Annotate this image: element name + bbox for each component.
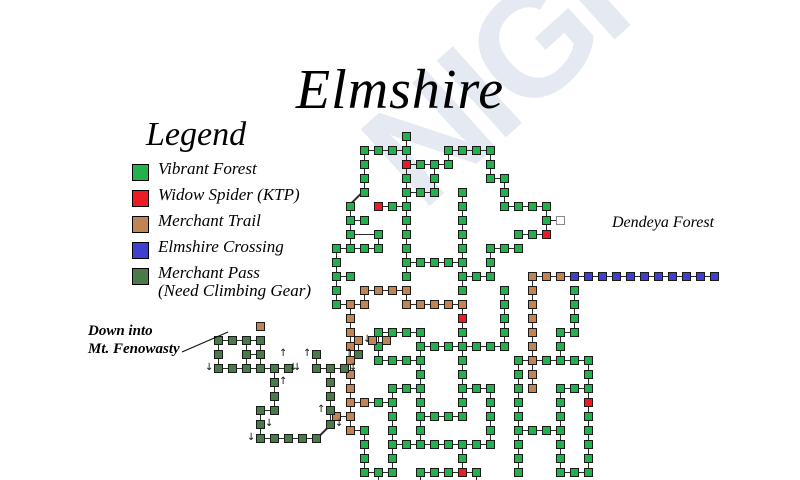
map-node-pass[interactable] (326, 406, 335, 415)
legend-label-forest: Vibrant Forest (158, 160, 257, 178)
map-node-forest[interactable] (556, 426, 565, 435)
map-node-forest[interactable] (388, 146, 397, 155)
map-node-forest[interactable] (472, 440, 481, 449)
map-node-forest[interactable] (514, 356, 523, 365)
map-node-trail[interactable] (382, 336, 391, 345)
map-node-forest[interactable] (570, 356, 579, 365)
map-node-forest[interactable] (402, 244, 411, 253)
map-node-forest[interactable] (514, 230, 523, 239)
map-node-forest[interactable] (486, 258, 495, 267)
map-node-forest[interactable] (430, 160, 439, 169)
map-node-forest[interactable] (346, 272, 355, 281)
map-node-crossing[interactable] (696, 272, 705, 281)
map-node-pass[interactable] (256, 406, 265, 415)
map-node-trail[interactable] (528, 300, 537, 309)
map-node-forest[interactable] (402, 146, 411, 155)
map-node-pass[interactable] (214, 364, 223, 373)
map-node-forest[interactable] (570, 286, 579, 295)
map-node-forest[interactable] (458, 272, 467, 281)
map-node-forest[interactable] (402, 272, 411, 281)
legend-swatch-forest (132, 164, 149, 181)
map-node-forest[interactable] (430, 342, 439, 351)
map-node-forest[interactable] (416, 468, 425, 477)
map-node-trail[interactable] (430, 300, 439, 309)
map-node-forest[interactable] (584, 454, 593, 463)
map-node-forest[interactable] (402, 216, 411, 225)
map-node-forest[interactable] (388, 384, 397, 393)
map-node-forest[interactable] (332, 286, 341, 295)
map-node-forest[interactable] (472, 342, 481, 351)
map-node-forest[interactable] (486, 398, 495, 407)
map-edge (504, 206, 546, 208)
map-node-trail[interactable] (528, 370, 537, 379)
annotation-leader-line (180, 330, 230, 360)
map-node-forest[interactable] (458, 440, 467, 449)
map-node-forest[interactable] (486, 440, 495, 449)
map-node-forest[interactable] (416, 356, 425, 365)
map-node-forest[interactable] (514, 426, 523, 435)
map-node-pass[interactable] (354, 350, 363, 359)
map-node-forest[interactable] (360, 216, 369, 225)
map-node-forest[interactable] (458, 202, 467, 211)
map-node-forest[interactable] (514, 202, 523, 211)
map-node-crossing[interactable] (682, 272, 691, 281)
map-node-forest[interactable] (486, 342, 495, 351)
map-arrow-down: ↓ (205, 363, 213, 373)
map-node-pass[interactable] (270, 378, 279, 387)
map-node-pass[interactable] (270, 434, 279, 443)
map-node-spider[interactable] (402, 160, 411, 169)
map-node-trail[interactable] (346, 426, 355, 435)
map-node-spider[interactable] (584, 398, 593, 407)
map-node-forest[interactable] (500, 286, 509, 295)
map-node-pass[interactable] (312, 364, 321, 373)
map-node-pass[interactable] (298, 434, 307, 443)
map-node-forest[interactable] (458, 258, 467, 267)
map-node-trail[interactable] (360, 300, 369, 309)
map-node-forest[interactable] (346, 216, 355, 225)
map-node-forest[interactable] (556, 328, 565, 337)
legend-label-pass: Merchant Pass (Need Climbing Gear) (158, 264, 311, 301)
map-node-crossing[interactable] (654, 272, 663, 281)
map-node-forest[interactable] (360, 188, 369, 197)
map-node-forest[interactable] (360, 244, 369, 253)
map-node-forest[interactable] (584, 370, 593, 379)
map-node-forest[interactable] (402, 188, 411, 197)
map-node-forest[interactable] (402, 230, 411, 239)
map-node-pass[interactable] (270, 392, 279, 401)
map-node-forest[interactable] (486, 174, 495, 183)
map-arrow-down: ↓ (363, 335, 371, 345)
map-node-forest[interactable] (458, 188, 467, 197)
map-node-pass[interactable] (326, 364, 335, 373)
map-arrow-up: ↑ (345, 349, 353, 359)
map-edge (406, 164, 448, 166)
map-node-forest[interactable] (360, 454, 369, 463)
map-node-forest[interactable] (444, 258, 453, 267)
map-node-forest[interactable] (514, 384, 523, 393)
map-node-pass[interactable] (228, 364, 237, 373)
map-node-empty[interactable] (556, 216, 565, 225)
legend-label-spider: Widow Spider (KTP) (158, 186, 300, 204)
map-node-forest[interactable] (346, 230, 355, 239)
map-edge (364, 150, 406, 152)
map-edge (364, 150, 366, 192)
map-edge (378, 332, 420, 334)
map-node-trail[interactable] (374, 286, 383, 295)
map-node-forest[interactable] (556, 342, 565, 351)
map-node-spider[interactable] (374, 202, 383, 211)
map-arrow-down: ↓ (265, 419, 273, 429)
map-node-forest[interactable] (360, 468, 369, 477)
map-arrow-down: ↓ (247, 433, 255, 443)
map-node-forest[interactable] (570, 384, 579, 393)
legend-swatch-trail (132, 216, 149, 233)
map-node-forest[interactable] (458, 342, 467, 351)
map-node-forest[interactable] (416, 384, 425, 393)
map-node-trail[interactable] (528, 342, 537, 351)
map-node-trail[interactable] (528, 272, 537, 281)
map-node-forest[interactable] (500, 202, 509, 211)
map-node-trail[interactable] (354, 336, 363, 345)
map-node-forest[interactable] (416, 342, 425, 351)
map-node-trail[interactable] (458, 300, 467, 309)
map-node-spider[interactable] (542, 230, 551, 239)
map-node-forest[interactable] (416, 188, 425, 197)
map-node-pass[interactable] (326, 420, 335, 429)
map-node-trail[interactable] (346, 314, 355, 323)
map-node-forest[interactable] (514, 412, 523, 421)
map-node-forest[interactable] (500, 188, 509, 197)
map-node-forest[interactable] (416, 440, 425, 449)
map-node-trail[interactable] (528, 314, 537, 323)
map-edge (574, 290, 576, 332)
annotation-dendeya-forest: Dendeya Forest (612, 214, 714, 233)
map-node-trail[interactable] (528, 384, 537, 393)
map-node-forest[interactable] (388, 356, 397, 365)
map-edge (406, 164, 408, 206)
map-node-forest[interactable] (472, 146, 481, 155)
map-node-forest[interactable] (556, 412, 565, 421)
map-node-forest[interactable] (500, 342, 509, 351)
map-node-pass[interactable] (256, 420, 265, 429)
map-node-forest[interactable] (360, 174, 369, 183)
map-node-pass[interactable] (270, 364, 279, 373)
map-node-forest[interactable] (514, 244, 523, 253)
map-node-forest[interactable] (332, 300, 341, 309)
map-node-forest[interactable] (388, 454, 397, 463)
map-node-forest[interactable] (388, 440, 397, 449)
map-node-forest[interactable] (388, 398, 397, 407)
map-node-pass[interactable] (242, 336, 251, 345)
map-node-forest[interactable] (430, 188, 439, 197)
map-node-pass[interactable] (326, 378, 335, 387)
map-node-forest[interactable] (416, 426, 425, 435)
map-node-forest[interactable] (444, 412, 453, 421)
map-node-forest[interactable] (374, 230, 383, 239)
map-node-forest[interactable] (332, 258, 341, 267)
map-node-forest[interactable] (570, 468, 579, 477)
map-node-forest[interactable] (472, 468, 481, 477)
map-node-forest[interactable] (500, 244, 509, 253)
map-node-pass[interactable] (256, 350, 265, 359)
map-node-pass[interactable] (312, 350, 321, 359)
map-node-pass[interactable] (284, 434, 293, 443)
map-edge (364, 430, 366, 472)
map-node-forest[interactable] (458, 146, 467, 155)
map-node-trail[interactable] (346, 398, 355, 407)
map-node-pass[interactable] (242, 350, 251, 359)
map-node-trail[interactable] (542, 272, 551, 281)
map-node-forest[interactable] (374, 356, 383, 365)
map-node-forest[interactable] (360, 146, 369, 155)
map-node-crossing[interactable] (626, 272, 635, 281)
map-node-forest[interactable] (374, 468, 383, 477)
map-node-forest[interactable] (444, 342, 453, 351)
map-node-trail[interactable] (528, 286, 537, 295)
map-node-spider[interactable] (458, 468, 467, 477)
map-node-forest[interactable] (472, 272, 481, 281)
map-node-forest[interactable] (584, 412, 593, 421)
map-node-trail[interactable] (388, 286, 397, 295)
map-node-forest[interactable] (402, 328, 411, 337)
map-node-forest[interactable] (416, 160, 425, 169)
page-title: Elmshire (0, 58, 800, 122)
map-node-forest[interactable] (542, 426, 551, 435)
map-node-forest[interactable] (486, 412, 495, 421)
legend-item-forest: Vibrant Forest (132, 160, 311, 181)
map-node-forest[interactable] (402, 202, 411, 211)
map-node-forest[interactable] (374, 398, 383, 407)
legend-heading: Legend (146, 118, 311, 152)
map-node-forest[interactable] (486, 160, 495, 169)
map-arrow-down: ↓ (289, 363, 297, 373)
map-node-forest[interactable] (486, 384, 495, 393)
map-edge (378, 360, 420, 362)
annotation-line-2: Mt. Fenowasty (88, 341, 180, 359)
legend-item-pass: Merchant Pass (Need Climbing Gear) (132, 264, 311, 301)
map-node-forest[interactable] (416, 370, 425, 379)
map-node-crossing[interactable] (570, 272, 579, 281)
legend-item-spider: Widow Spider (KTP) (132, 186, 311, 207)
map-node-forest[interactable] (458, 398, 467, 407)
map-node-trail[interactable] (402, 300, 411, 309)
map-node-forest[interactable] (570, 328, 579, 337)
map-node-trail[interactable] (346, 384, 355, 393)
map-node-forest[interactable] (500, 314, 509, 323)
annotation-mt-fenowasty: Down into Mt. Fenowasty (88, 323, 180, 358)
map-node-forest[interactable] (360, 440, 369, 449)
map-node-trail[interactable] (444, 300, 453, 309)
map-node-forest[interactable] (472, 384, 481, 393)
map-node-forest[interactable] (542, 356, 551, 365)
map-node-forest[interactable] (584, 356, 593, 365)
map-node-trail[interactable] (402, 286, 411, 295)
legend-item-crossing: Elmshire Crossing (132, 238, 311, 259)
map-node-trail[interactable] (416, 300, 425, 309)
map-node-forest[interactable] (346, 244, 355, 253)
map-node-forest[interactable] (360, 426, 369, 435)
map-node-forest[interactable] (458, 412, 467, 421)
map-node-forest[interactable] (388, 202, 397, 211)
legend-label-trail: Merchant Trail (158, 212, 261, 230)
map-node-pass[interactable] (326, 392, 335, 401)
map-node-forest[interactable] (514, 370, 523, 379)
map-node-forest[interactable] (570, 314, 579, 323)
map-node-pass[interactable] (340, 364, 349, 373)
map-page: NIGHTHAWK Elmshire Legend Vibrant Forest… (0, 0, 800, 480)
map-node-forest[interactable] (430, 440, 439, 449)
map-edge (350, 206, 352, 248)
map-node-forest[interactable] (584, 426, 593, 435)
map-node-forest[interactable] (486, 244, 495, 253)
map-node-spider[interactable] (458, 314, 467, 323)
map-node-trail[interactable] (556, 272, 565, 281)
map-node-forest[interactable] (402, 440, 411, 449)
map-edge (274, 368, 276, 410)
map-node-forest[interactable] (528, 202, 537, 211)
map-node-forest[interactable] (528, 230, 537, 239)
map-node-forest[interactable] (360, 160, 369, 169)
map-node-forest[interactable] (458, 230, 467, 239)
map-node-forest[interactable] (514, 440, 523, 449)
map-node-crossing[interactable] (710, 272, 719, 281)
map-node-forest[interactable] (500, 174, 509, 183)
map-node-forest[interactable] (374, 244, 383, 253)
map-arrow-up: ↑ (317, 405, 325, 415)
annotation-line-1: Down into (88, 323, 180, 341)
map-node-forest[interactable] (556, 384, 565, 393)
legend-swatch-crossing (132, 242, 149, 259)
map-node-crossing[interactable] (584, 272, 593, 281)
map-node-pass[interactable] (242, 364, 251, 373)
map-node-forest[interactable] (486, 426, 495, 435)
map-node-forest[interactable] (374, 146, 383, 155)
map-node-trail[interactable] (360, 286, 369, 295)
map-arrow-down: ↓ (349, 363, 357, 373)
map-node-forest[interactable] (542, 202, 551, 211)
map-node-forest[interactable] (402, 356, 411, 365)
map-node-trail[interactable] (528, 356, 537, 365)
map-arrow-up: ↑ (303, 349, 311, 359)
map-node-trail[interactable] (256, 322, 265, 331)
map-node-forest[interactable] (584, 384, 593, 393)
map-node-forest[interactable] (430, 468, 439, 477)
map-node-crossing[interactable] (612, 272, 621, 281)
map-edge (420, 416, 462, 418)
map-edge (350, 402, 392, 404)
map-node-forest[interactable] (416, 258, 425, 267)
map-node-forest[interactable] (416, 398, 425, 407)
legend-swatch-pass (132, 268, 149, 285)
map-node-forest[interactable] (556, 398, 565, 407)
map-edge (364, 290, 406, 292)
map-node-crossing[interactable] (668, 272, 677, 281)
map-node-trail[interactable] (528, 328, 537, 337)
map-node-forest[interactable] (584, 440, 593, 449)
legend-swatch-spider (132, 190, 149, 207)
map-node-forest[interactable] (500, 300, 509, 309)
map-node-forest[interactable] (402, 132, 411, 141)
map-node-crossing[interactable] (640, 272, 649, 281)
map-node-forest[interactable] (458, 454, 467, 463)
map-node-forest[interactable] (402, 258, 411, 267)
map-node-forest[interactable] (416, 328, 425, 337)
map-node-forest[interactable] (402, 174, 411, 183)
map-node-forest[interactable] (332, 272, 341, 281)
legend-label-crossing: Elmshire Crossing (158, 238, 284, 256)
legend-item-trail: Merchant Trail (132, 212, 311, 233)
map-node-forest[interactable] (458, 356, 467, 365)
map-node-forest[interactable] (402, 384, 411, 393)
map-node-forest[interactable] (430, 412, 439, 421)
map-node-forest[interactable] (430, 174, 439, 183)
map-node-forest[interactable] (486, 272, 495, 281)
map-node-forest[interactable] (444, 160, 453, 169)
map-node-forest[interactable] (388, 426, 397, 435)
map-arrow-up: ↑ (279, 377, 287, 387)
map-arrow-down: ↓ (335, 419, 343, 429)
legend: Legend Vibrant Forest Widow Spider (KTP)… (132, 118, 311, 306)
map-node-forest[interactable] (388, 412, 397, 421)
map-node-forest[interactable] (556, 356, 565, 365)
map-node-pass[interactable] (256, 336, 265, 345)
map-node-forest[interactable] (444, 468, 453, 477)
map-node-forest[interactable] (444, 440, 453, 449)
map-node-pass[interactable] (312, 434, 321, 443)
map-node-forest[interactable] (514, 454, 523, 463)
map-node-pass[interactable] (270, 406, 279, 415)
map-node-forest[interactable] (332, 244, 341, 253)
map-arrow-up: ↑ (279, 349, 287, 359)
map-node-forest[interactable] (556, 454, 565, 463)
map-edge (336, 248, 378, 250)
map-node-forest[interactable] (458, 384, 467, 393)
map-node-forest[interactable] (458, 216, 467, 225)
map-node-trail[interactable] (360, 398, 369, 407)
map-node-forest[interactable] (556, 468, 565, 477)
map-edge (462, 304, 464, 346)
map-node-forest[interactable] (528, 426, 537, 435)
map-node-pass[interactable] (256, 364, 265, 373)
map-node-forest[interactable] (556, 440, 565, 449)
map-node-forest[interactable] (416, 412, 425, 421)
map-node-forest[interactable] (458, 286, 467, 295)
map-node-forest[interactable] (514, 398, 523, 407)
map-node-forest[interactable] (430, 258, 439, 267)
map-node-forest[interactable] (458, 328, 467, 337)
map-node-forest[interactable] (514, 468, 523, 477)
map-node-forest[interactable] (346, 202, 355, 211)
map-node-forest[interactable] (486, 146, 495, 155)
map-node-forest[interactable] (570, 300, 579, 309)
map-node-forest[interactable] (542, 216, 551, 225)
map-edge (518, 430, 560, 432)
map-node-forest[interactable] (458, 244, 467, 253)
map-node-forest[interactable] (584, 468, 593, 477)
map-node-forest[interactable] (388, 468, 397, 477)
map-node-trail[interactable] (346, 412, 355, 421)
map-node-forest[interactable] (458, 370, 467, 379)
map-node-crossing[interactable] (598, 272, 607, 281)
map-node-forest[interactable] (444, 146, 453, 155)
map-node-trail[interactable] (346, 300, 355, 309)
map-node-pass[interactable] (256, 434, 265, 443)
map-edge (448, 150, 490, 152)
map-node-forest[interactable] (500, 328, 509, 337)
